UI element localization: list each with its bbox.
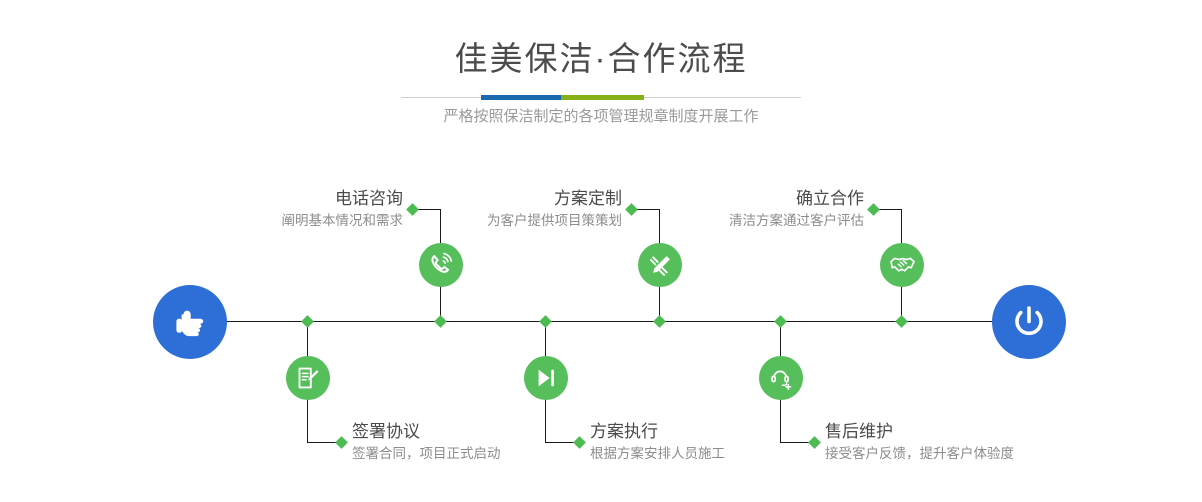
step-title-6: 售后维护: [825, 420, 1185, 443]
timeline: 电话咨询 阐明基本情况和需求: [0, 0, 1202, 502]
axis-diamond-2: [301, 315, 314, 328]
document-sign-icon: [296, 366, 320, 390]
timeline-start-endpoint[interactable]: [153, 285, 227, 359]
step-icon-5[interactable]: [880, 243, 924, 287]
step-icon-6[interactable]: [759, 356, 803, 400]
pointing-hand-icon: [170, 302, 210, 342]
step-desc-5: 清洁方案通过客户评估: [550, 210, 864, 232]
label-diamond-5: [867, 203, 880, 216]
step-icon-2[interactable]: [286, 356, 330, 400]
step-label-6: 售后维护 接受客户反馈，提升客户体验度: [825, 420, 1185, 465]
pencil-design-icon: [648, 253, 673, 278]
handshake-icon: [889, 252, 916, 279]
step-icon-1[interactable]: [419, 243, 463, 287]
axis-diamond-4: [539, 315, 552, 328]
axis-diamond-6: [774, 315, 787, 328]
step-title-5: 确立合作: [550, 187, 864, 210]
play-execute-icon: [534, 366, 558, 390]
customer-service-icon: [769, 366, 794, 391]
label-diamond-2: [335, 436, 348, 449]
power-icon: [1008, 301, 1050, 343]
axis-diamond-3: [653, 315, 666, 328]
timeline-end-endpoint[interactable]: [992, 285, 1066, 359]
step-label-5: 确立合作 清洁方案通过客户评估: [550, 187, 864, 232]
step-desc-6: 接受客户反馈，提升客户体验度: [825, 443, 1185, 465]
phone-call-icon: [428, 252, 454, 278]
step-icon-3[interactable]: [638, 243, 682, 287]
cooperation-process-infographic: 佳美保洁·合作流程 严格按照保洁制定的各项管理规章制度开展工作: [0, 0, 1202, 502]
axis-diamond-1: [434, 315, 447, 328]
step-icon-4[interactable]: [524, 356, 568, 400]
axis-diamond-5: [895, 315, 908, 328]
